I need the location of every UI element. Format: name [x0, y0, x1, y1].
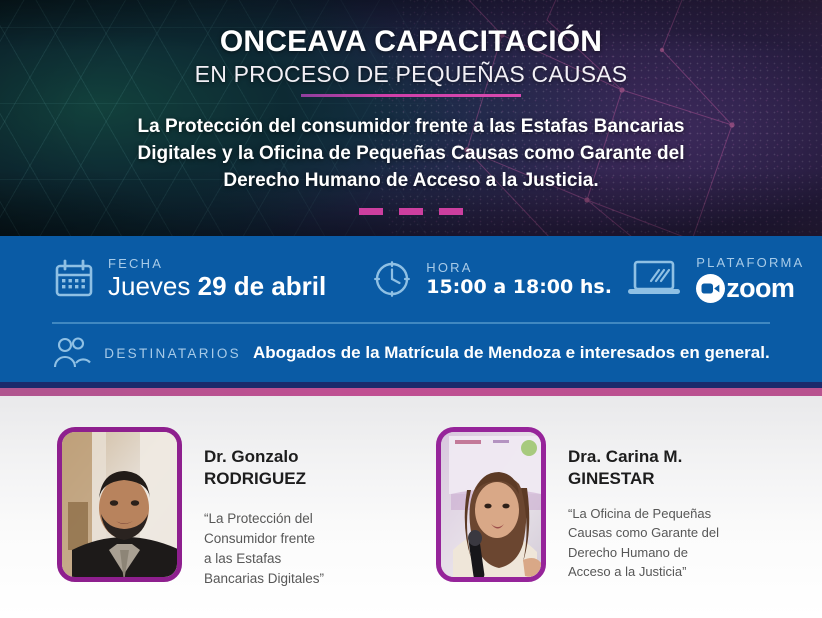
zoom-camera-icon	[696, 274, 725, 303]
hero-headline: La Protección del consumidor frente a la…	[101, 114, 721, 195]
speaker-quote-2: “La Oficina de Pequeñas Causas como Gara…	[568, 504, 719, 582]
clock-icon	[372, 259, 412, 299]
info-divider	[52, 322, 770, 324]
speaker-text-2: Dra. Carina M. GINESTAR “La Oficina de P…	[568, 427, 719, 582]
audience-value: Abogados de la Matrícula de Mendoza e in…	[253, 343, 770, 363]
dash-2	[399, 208, 423, 215]
zoom-wordmark: zoom	[726, 275, 794, 302]
info-row-primary: FECHA Jueves 29 de abril HORA	[52, 236, 770, 322]
avatar	[62, 432, 177, 577]
speaker-name-1: Dr. Gonzalo RODRIGUEZ	[204, 446, 324, 490]
poster-root: ONCEAVA CAPACITACIÓN EN PROCESO DE PEQUE…	[0, 0, 822, 618]
speaker-photo-2	[436, 427, 546, 582]
calendar-icon	[54, 259, 94, 299]
page-subtitle: EN PROCESO DE PEQUEÑAS CAUSAS	[195, 61, 628, 87]
event-info-bar: FECHA Jueves 29 de abril HORA	[0, 236, 822, 382]
date-weekday: Jueves	[108, 271, 198, 301]
date-daymonth: 29 de abril	[198, 271, 327, 301]
speaker-card-2: Dra. Carina M. GINESTAR “La Oficina de P…	[410, 396, 822, 618]
info-cell-platform: PLATAFORMA zoom	[576, 256, 804, 303]
speaker-text-1: Dr. Gonzalo RODRIGUEZ “La Protección del…	[204, 427, 324, 590]
audience-label: DESTINATARIOS	[104, 346, 241, 361]
info-cell-date: FECHA Jueves 29 de abril	[52, 257, 326, 300]
speaker-quote-1: “La Protección del Consumidor frente a l…	[204, 509, 324, 590]
pink-divider-bar	[0, 388, 822, 396]
speaker-card-1: Dr. Gonzalo RODRIGUEZ “La Protección del…	[0, 396, 410, 618]
zoom-logo: zoom	[696, 274, 804, 303]
date-label: FECHA	[108, 257, 326, 270]
title-underline-rule	[301, 94, 521, 97]
date-text-block: FECHA Jueves 29 de abril	[108, 257, 326, 300]
speaker-name-2: Dra. Carina M. GINESTAR	[568, 446, 719, 490]
decorative-dashes	[359, 208, 463, 215]
people-icon	[52, 337, 92, 369]
info-cell-time: HORA 15:00 a 18:00 hs.	[326, 259, 576, 299]
dash-1	[359, 208, 383, 215]
dash-3	[439, 208, 463, 215]
avatar	[441, 432, 541, 577]
hero-banner: ONCEAVA CAPACITACIÓN EN PROCESO DE PEQUE…	[0, 0, 822, 236]
speaker-photo-1	[57, 427, 182, 582]
page-title: ONCEAVA CAPACITACIÓN	[220, 26, 602, 58]
platform-text-block: PLATAFORMA zoom	[696, 256, 804, 303]
date-value: Jueves 29 de abril	[108, 273, 326, 300]
platform-label: PLATAFORMA	[696, 256, 804, 269]
hero-content: ONCEAVA CAPACITACIÓN EN PROCESO DE PEQUE…	[0, 0, 822, 236]
laptop-icon	[626, 258, 682, 300]
speakers-section: Dr. Gonzalo RODRIGUEZ “La Protección del…	[0, 396, 822, 618]
info-row-audience: DESTINATARIOS Abogados de la Matrícula d…	[52, 324, 770, 382]
